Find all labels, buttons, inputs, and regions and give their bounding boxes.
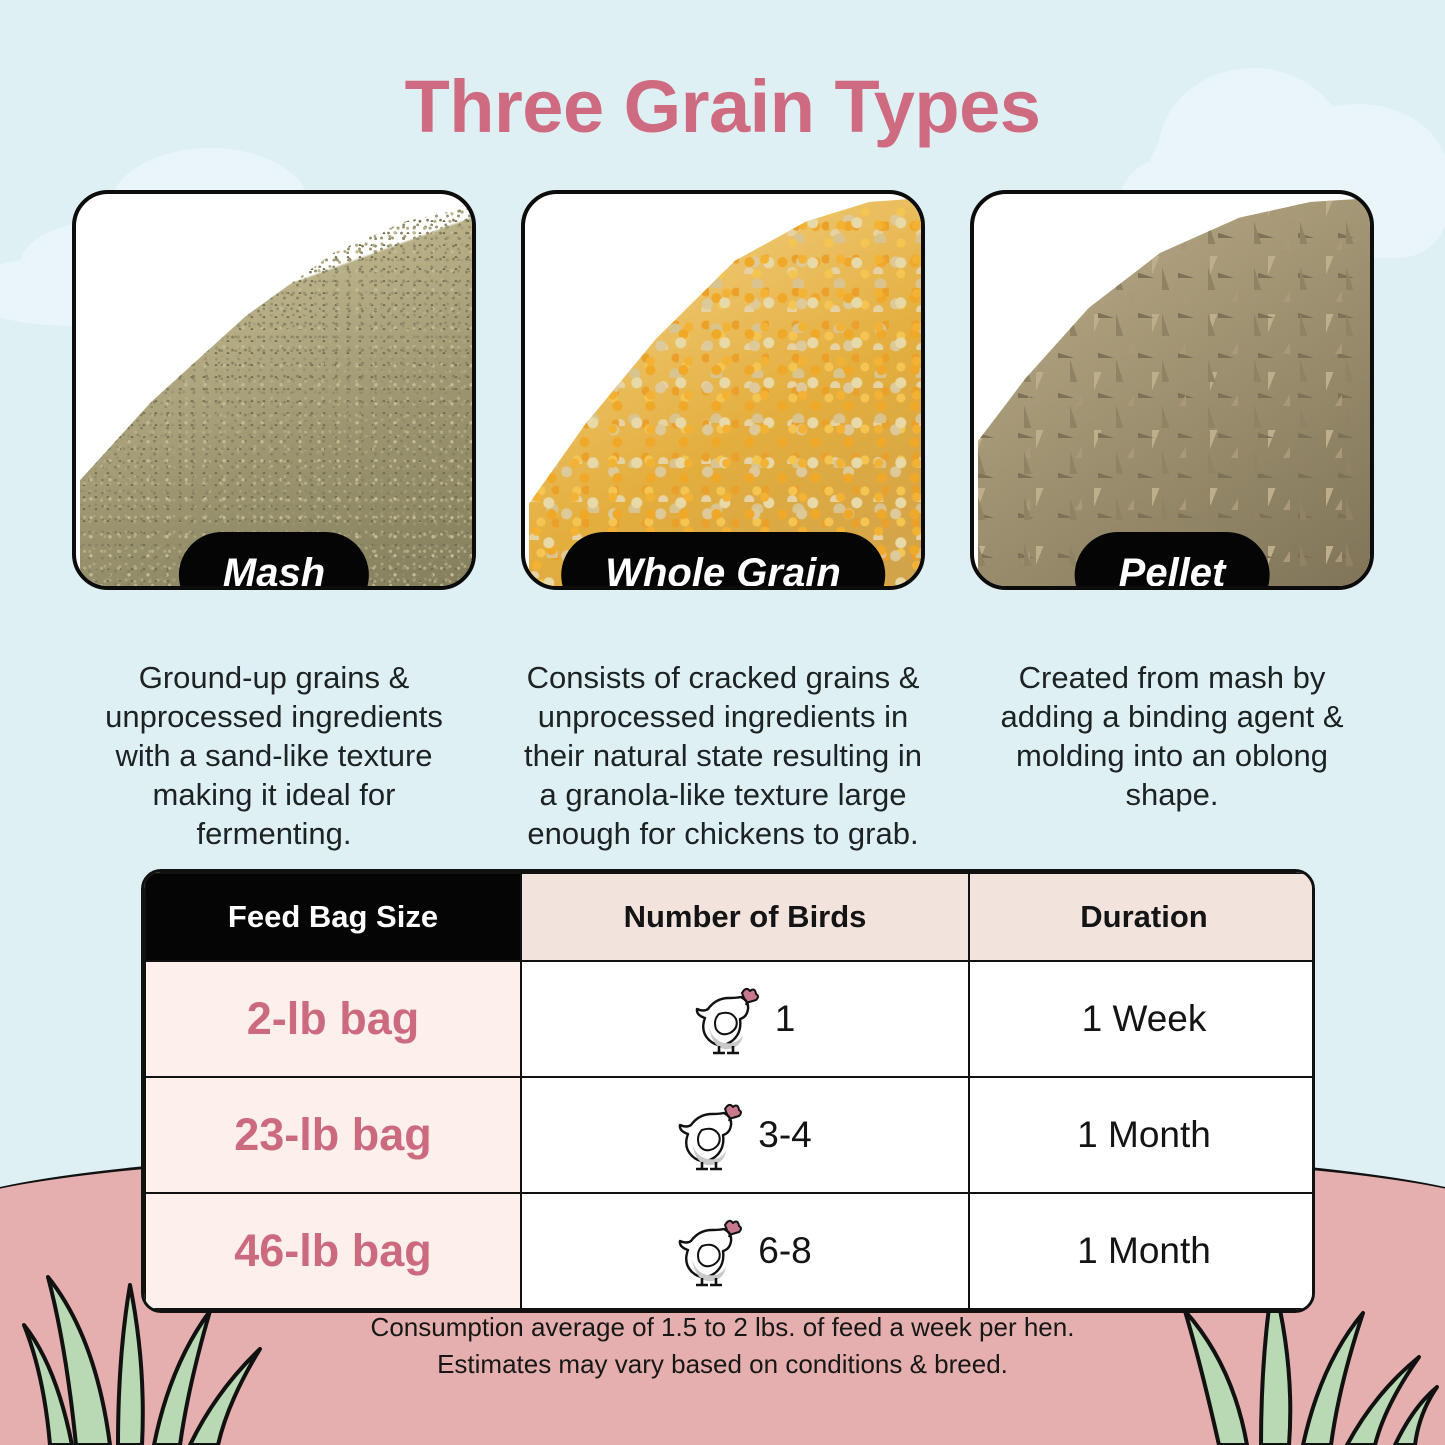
- bird-count: 1: [775, 998, 796, 1040]
- mash-grain-photo: Mash: [72, 190, 476, 590]
- grain-card-list: Mash Ground-up grains & unprocessed ingr…: [72, 190, 1374, 853]
- hen-icon: [678, 1215, 744, 1287]
- feed-bag-table-element: Feed Bag Size Number of Birds Duration 2…: [144, 872, 1315, 1310]
- footnote-line-1: Consumption average of 1.5 to 2 lbs. of …: [0, 1309, 1445, 1346]
- feed-bag-table: Feed Bag Size Number of Birds Duration 2…: [141, 869, 1315, 1313]
- grain-label-mash: Mash: [179, 532, 369, 590]
- grain-label-whole-grain: Whole Grain: [561, 532, 885, 590]
- bird-count: 3-4: [758, 1114, 811, 1156]
- cell-feed-bag-size: 2-lb bag: [145, 961, 521, 1077]
- grain-card-whole-grain: Whole Grain Consists of cracked grains &…: [521, 190, 925, 853]
- whole-grain-photo: Whole Grain: [521, 190, 925, 590]
- grain-description-pellet: Created from mash by adding a binding ag…: [970, 658, 1374, 814]
- table-row: 2-lb bag 1: [145, 961, 1315, 1077]
- table-row: 23-lb bag 3-4: [145, 1077, 1315, 1193]
- cell-duration: 1 Month: [969, 1193, 1315, 1309]
- cell-number-of-birds: 3-4: [521, 1077, 969, 1193]
- cell-feed-bag-size: 46-lb bag: [145, 1193, 521, 1309]
- hen-icon: [678, 1099, 744, 1171]
- bird-count: 6-8: [758, 1230, 811, 1272]
- grain-description-mash: Ground-up grains & unprocessed ingredien…: [72, 658, 476, 853]
- cell-duration: 1 Month: [969, 1077, 1315, 1193]
- infographic-stage: Three Grain Types Mash Ground-up grains …: [0, 0, 1445, 1445]
- page-title: Three Grain Types: [0, 64, 1445, 149]
- grain-card-pellet: Pellet Created from mash by adding a bin…: [970, 190, 1374, 853]
- grain-label-pellet: Pellet: [1075, 532, 1270, 590]
- grain-description-whole-grain: Consists of cracked grains & unprocessed…: [521, 658, 925, 853]
- table-row: 46-lb bag 6-8: [145, 1193, 1315, 1309]
- footnote: Consumption average of 1.5 to 2 lbs. of …: [0, 1309, 1445, 1383]
- table-header-row: Feed Bag Size Number of Birds Duration: [145, 873, 1315, 961]
- pellet-photo: Pellet: [970, 190, 1374, 590]
- footnote-line-2: Estimates may vary based on conditions &…: [0, 1346, 1445, 1383]
- cell-number-of-birds: 6-8: [521, 1193, 969, 1309]
- cell-number-of-birds: 1: [521, 961, 969, 1077]
- column-header-feed-bag-size: Feed Bag Size: [145, 873, 521, 961]
- column-header-number-of-birds: Number of Birds: [521, 873, 969, 961]
- cell-duration: 1 Week: [969, 961, 1315, 1077]
- column-header-duration: Duration: [969, 873, 1315, 961]
- cell-feed-bag-size: 23-lb bag: [145, 1077, 521, 1193]
- grain-card-mash: Mash Ground-up grains & unprocessed ingr…: [72, 190, 476, 853]
- hen-icon: [695, 983, 761, 1055]
